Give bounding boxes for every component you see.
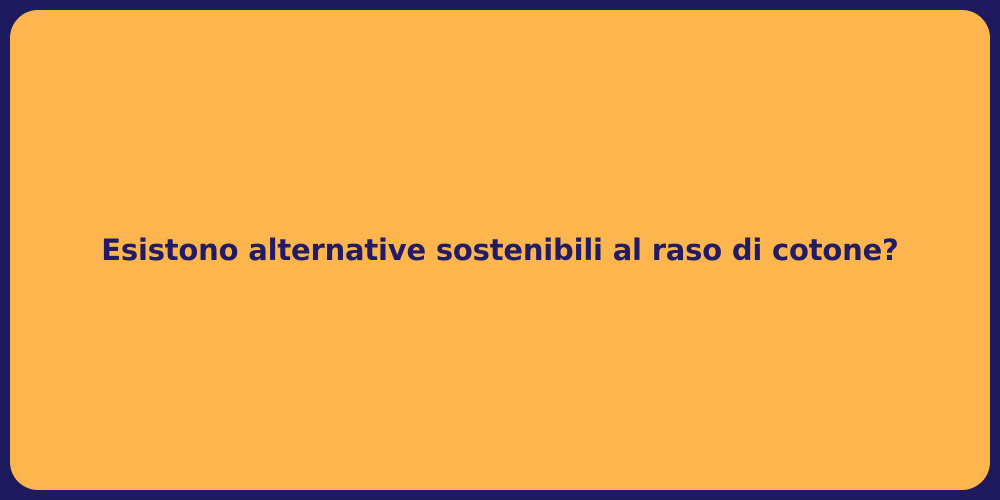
question-heading: Esistono alternative sostenibili al raso… — [101, 232, 898, 268]
page-frame: Esistono alternative sostenibili al raso… — [0, 0, 1000, 500]
question-card: Esistono alternative sostenibili al raso… — [10, 10, 990, 490]
